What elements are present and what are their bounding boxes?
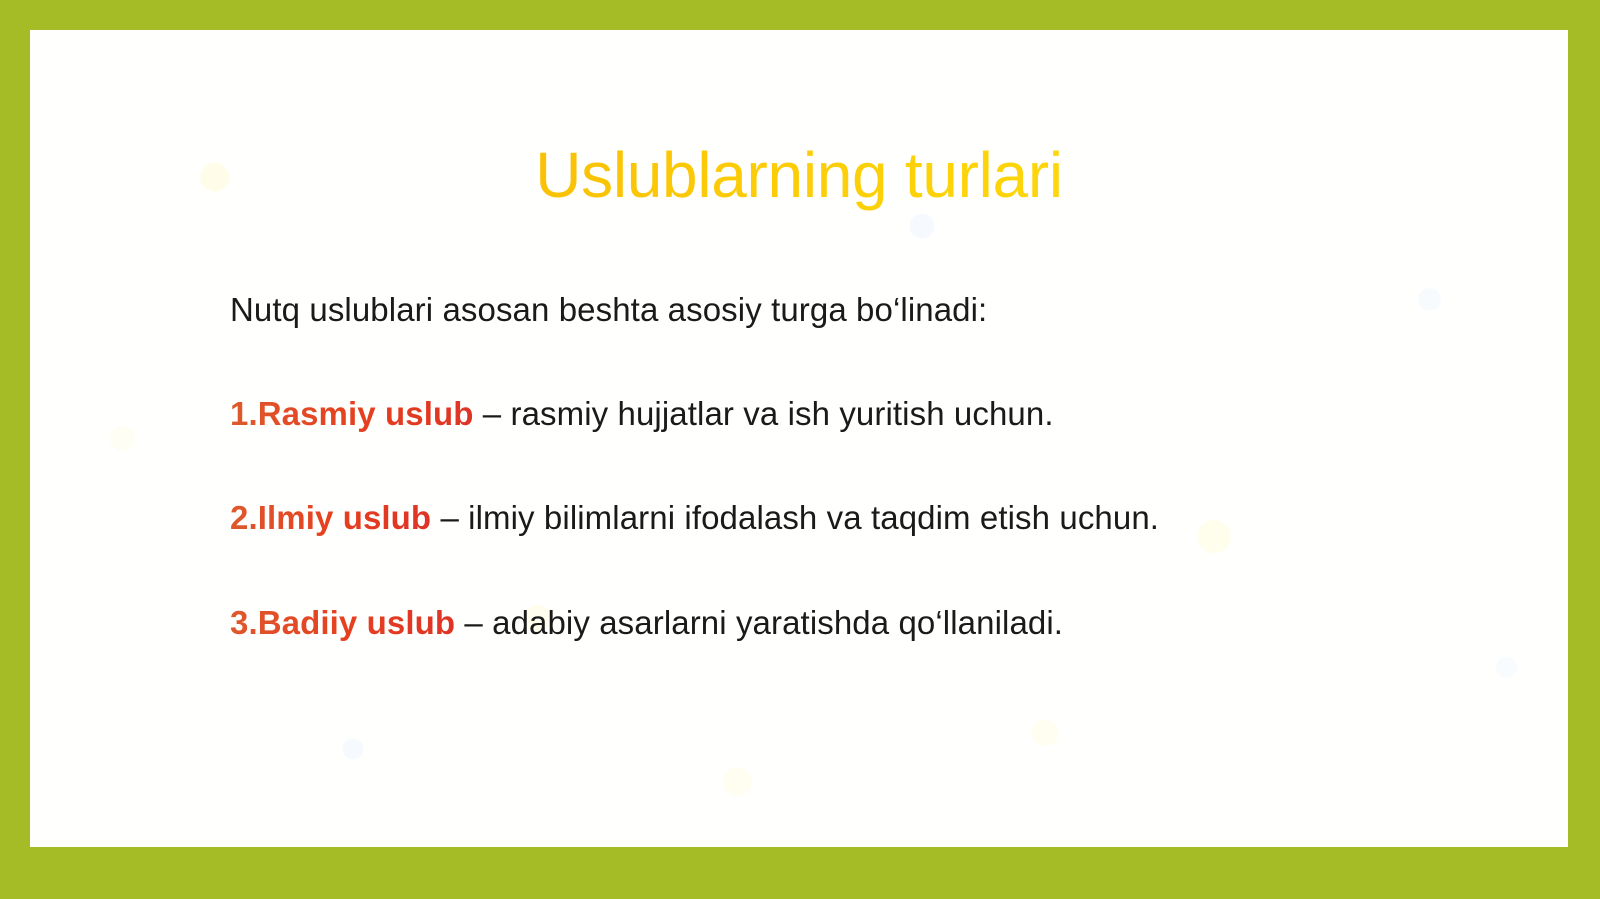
list-item: 2.Ilmiy uslub – ilmiy bilimlarni ifodala… — [230, 496, 1520, 540]
list-item-description: – ilmiy bilimlarni ifodalash va taqdim e… — [431, 499, 1159, 536]
list-item-description: – adabiy asarlarni yaratishda qo‘llanila… — [455, 604, 1063, 641]
intro-paragraph: Nutq uslublari asosan beshta asosiy turg… — [230, 288, 1520, 332]
list-item: 3.Badiiy uslub – adabiy asarlarni yarati… — [230, 601, 1520, 645]
list-item-term: 2.Ilmiy uslub — [230, 499, 431, 536]
slide-content-area: Uslublarning turlari Nutq uslublari asos… — [30, 30, 1568, 847]
slide-body: Nutq uslublari asosan beshta asosiy turg… — [230, 288, 1520, 645]
list-item-term: 1.Rasmiy uslub — [230, 395, 474, 432]
slide-title: Uslublarning turlari — [30, 139, 1568, 213]
list-item: 1.Rasmiy uslub – rasmiy hujjatlar va ish… — [230, 392, 1520, 436]
list-item-term: 3.Badiiy uslub — [230, 604, 455, 641]
list-item-description: – rasmiy hujjatlar va ish yuritish uchun… — [474, 395, 1054, 432]
presentation-slide: Uslublarning turlari Nutq uslublari asos… — [0, 0, 1600, 899]
